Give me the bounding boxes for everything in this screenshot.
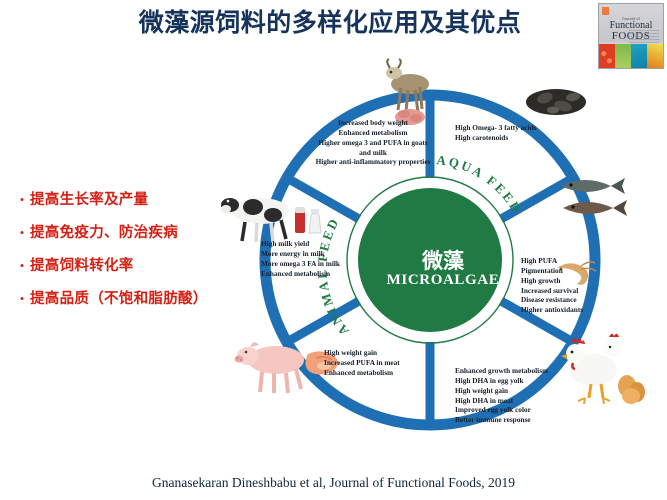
segment-line: High PUFA [521, 256, 641, 266]
segment-line: High Omega- 3 fatty acids [455, 123, 585, 133]
list-item: • 提高饲料转化率 [14, 256, 229, 276]
page-title: 微藻源饲料的多样化应用及其优点 [110, 10, 550, 38]
slide-canvas: 微藻源饲料的多样化应用及其优点 Journal of Functional FO… [0, 0, 667, 500]
segment-line: High weight gain [455, 386, 585, 396]
bullet-text: 提高生长率及产量 [30, 190, 148, 210]
bullet-marker-icon: • [14, 289, 30, 309]
segment-line: Enhanced metabolism [293, 128, 453, 138]
mussels-icon [523, 82, 593, 122]
segment-line: Higher antioxidants [521, 305, 641, 315]
segment-line: Enhanced growth metabolism [455, 366, 585, 376]
segment-text-dairy-cow: High milk yield More energy in milk More… [261, 239, 381, 278]
segment-line: Better immune response [455, 415, 585, 425]
bullet-text: 提高免疫力、防治疾病 [30, 223, 178, 243]
segment-line: Pigmentation [521, 266, 641, 276]
bullet-marker-icon: • [14, 223, 30, 243]
fish-icon [551, 170, 643, 226]
segment-line: High weight gain [324, 348, 449, 358]
cover-text-lines [629, 30, 659, 44]
segment-line: High growth [521, 276, 641, 286]
segment-line: Higher omega 3 and PUFA in goats [293, 138, 453, 148]
list-item: • 提高生长率及产量 [14, 190, 229, 210]
bullet-text: 提高饲料转化率 [30, 256, 134, 276]
segment-line: Higher anti-inflammatory properties [293, 157, 453, 167]
segment-line: Improved egg yolk color [455, 405, 585, 415]
segment-line: Disease resistance [521, 295, 641, 305]
cow-icon [213, 185, 323, 247]
segment-line: More omega 3 FA in milk [261, 259, 381, 269]
segment-text-pig-pork: High weight gain Increased PUFA in meat … [324, 348, 449, 378]
segment-line: Increased survival [521, 286, 641, 296]
segment-line: Increased PUFA in meat [324, 358, 449, 368]
bullet-marker-icon: • [14, 190, 30, 210]
benefits-list: • 提高生长率及产量 • 提高免疫力、防治疾病 • 提高饲料转化率 • 提高品质… [14, 190, 229, 322]
citation-text: Gnanasekaran Dineshbabu et al, Journal o… [0, 475, 667, 491]
segment-line: High DHA in egg yolk [455, 376, 585, 386]
list-item: • 提高免疫力、防治疾病 [14, 223, 229, 243]
segment-text-fish-shrimp: High PUFA Pigmentation High growth Incre… [521, 256, 641, 315]
segment-line: and milk [293, 148, 453, 158]
segment-line: More energy in milk [261, 249, 381, 259]
bullet-text: 提高品质（不饱和脂肪酸） [30, 289, 208, 309]
segment-text-goat-meat: Increased body weight Enhanced metabolis… [293, 118, 453, 167]
bullet-marker-icon: • [14, 256, 30, 276]
goat-icon [368, 57, 453, 127]
segment-line: High carotenoids [455, 133, 585, 143]
elsevier-logo-icon [602, 7, 609, 15]
segment-text-poultry-eggs: Enhanced growth metabolism High DHA in e… [455, 366, 585, 425]
segment-line: Increased body weight [293, 118, 453, 128]
segment-line: Enhanced metabolism [324, 368, 449, 378]
list-item: • 提高品质（不饱和脂肪酸） [14, 289, 229, 309]
segment-line: Enhanced metabolism [261, 269, 381, 279]
segment-line: High milk yield [261, 239, 381, 249]
segment-line: High DHA in meat [455, 396, 585, 406]
segment-text-seaweed-shellfish: High Omega- 3 fatty acids High carotenoi… [455, 123, 585, 143]
microalgae-feed-diagram: AQUA FEED ANIMAL FEED 微藻 MICROALGAE [233, 60, 653, 460]
